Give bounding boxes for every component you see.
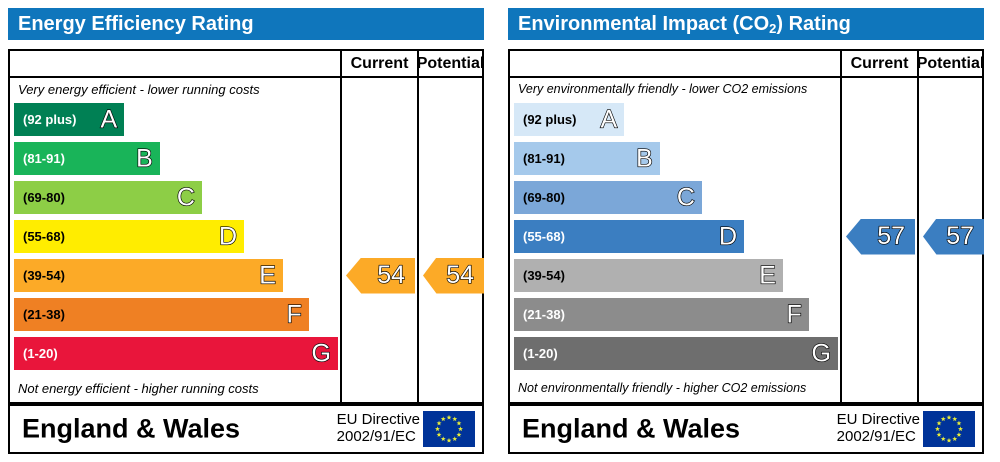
band-bar-e: (39-54)E xyxy=(14,259,283,292)
column-header-potential: Potential xyxy=(917,51,982,76)
table-header-row: Current Potential xyxy=(10,51,482,78)
footer-region-label: England & Wales xyxy=(22,414,240,445)
chart-title-text: Energy Efficiency Rating xyxy=(18,13,254,36)
rating-table: Current Potential Very energy efficient … xyxy=(8,49,484,404)
epc-charts-page: Energy Efficiency Rating Current Potenti… xyxy=(0,0,1000,462)
chart-title-bar: Environmental Impact (CO2) Rating xyxy=(508,8,984,40)
band-range-label: (81-91) xyxy=(523,151,565,166)
band-range-label: (69-80) xyxy=(523,190,565,205)
directive-line-1: EU Directive xyxy=(337,412,420,429)
band-letter-c: C xyxy=(177,185,195,210)
band-range-label: (39-54) xyxy=(23,268,65,283)
band-letter-d: D xyxy=(219,224,237,249)
column-divider-1 xyxy=(340,78,342,402)
potential-rating-arrow: 57 xyxy=(923,219,984,255)
band-letter-g: G xyxy=(312,341,331,366)
band-bar-a: (92 plus)A xyxy=(14,103,124,136)
band-range-label: (69-80) xyxy=(23,190,65,205)
band-range-label: (92 plus) xyxy=(523,112,576,127)
chart-footer: England & Wales EU Directive 2002/91/EC xyxy=(508,404,984,454)
chart-title-subscript: 2 xyxy=(769,21,776,36)
column-header-current: Current xyxy=(340,51,417,76)
band-letter-a: A xyxy=(100,107,117,132)
band-bar-f: (21-38)F xyxy=(14,298,309,331)
band-bar-c: (69-80)C xyxy=(514,181,702,214)
band-letter-b: B xyxy=(636,146,653,171)
directive-line-2: 2002/91/EC xyxy=(337,429,420,446)
column-divider-2 xyxy=(917,78,919,402)
band-letter-c: C xyxy=(677,185,695,210)
caption-top: Very energy efficient - lower running co… xyxy=(18,82,336,97)
column-header-potential: Potential xyxy=(417,51,482,76)
column-header-current: Current xyxy=(840,51,917,76)
directive-line-2: 2002/91/EC xyxy=(837,429,920,446)
band-range-label: (55-68) xyxy=(23,229,65,244)
band-letter-f: F xyxy=(287,302,302,327)
current-rating-value: 57 xyxy=(877,224,905,249)
caption-bottom: Not environmentally friendly - higher CO… xyxy=(518,381,848,395)
energy-efficiency-rating-chart: Energy Efficiency Rating Current Potenti… xyxy=(0,0,492,462)
chart-footer: England & Wales EU Directive 2002/91/EC xyxy=(8,404,484,454)
band-bar-g: (1-20)G xyxy=(514,337,838,370)
eu-flag-icon xyxy=(923,411,975,447)
column-divider-1 xyxy=(840,78,842,402)
band-bar-f: (21-38)F xyxy=(514,298,809,331)
band-letter-f: F xyxy=(787,302,802,327)
band-bar-c: (69-80)C xyxy=(14,181,202,214)
current-rating-arrow: 57 xyxy=(846,219,915,255)
band-letter-a: A xyxy=(600,107,617,132)
table-header-row: Current Potential xyxy=(510,51,982,78)
band-bar-g: (1-20)G xyxy=(14,337,338,370)
band-bar-b: (81-91)B xyxy=(14,142,160,175)
current-rating-value: 54 xyxy=(377,263,405,288)
eu-flag-icon xyxy=(423,411,475,447)
band-letter-b: B xyxy=(136,146,153,171)
band-letter-d: D xyxy=(719,224,737,249)
band-range-label: (1-20) xyxy=(23,346,58,361)
band-range-label: (39-54) xyxy=(523,268,565,283)
band-bar-b: (81-91)B xyxy=(514,142,660,175)
footer-directive: EU Directive 2002/91/EC xyxy=(337,412,420,446)
environmental-impact-rating-chart: Environmental Impact (CO2) Rating Curren… xyxy=(500,0,992,462)
potential-rating-arrow: 54 xyxy=(423,258,484,294)
band-range-label: (55-68) xyxy=(523,229,565,244)
directive-line-1: EU Directive xyxy=(837,412,920,429)
potential-rating-value: 57 xyxy=(946,224,974,249)
footer-directive: EU Directive 2002/91/EC xyxy=(837,412,920,446)
band-bar-e: (39-54)E xyxy=(514,259,783,292)
band-range-label: (92 plus) xyxy=(23,112,76,127)
chart-title-text: Environmental Impact (CO xyxy=(518,13,769,36)
band-bar-a: (92 plus)A xyxy=(514,103,624,136)
band-bar-d: (55-68)D xyxy=(514,220,744,253)
column-divider-2 xyxy=(417,78,419,402)
band-range-label: (21-38) xyxy=(523,307,565,322)
chart-title-bar: Energy Efficiency Rating xyxy=(8,8,484,40)
caption-top: Very environmentally friendly - lower CO… xyxy=(518,82,848,96)
band-bar-d: (55-68)D xyxy=(14,220,244,253)
band-bars: (92 plus)A(81-91)B(69-80)C(55-68)D(39-54… xyxy=(14,103,338,379)
band-letter-e: E xyxy=(759,263,776,288)
chart-title-tail: ) Rating xyxy=(776,13,850,36)
caption-bottom: Not energy efficient - higher running co… xyxy=(18,381,336,396)
band-bars: (92 plus)A(81-91)B(69-80)C(55-68)D(39-54… xyxy=(514,103,838,379)
footer-region-label: England & Wales xyxy=(522,414,740,445)
potential-rating-value: 54 xyxy=(446,263,474,288)
band-letter-e: E xyxy=(259,263,276,288)
band-range-label: (81-91) xyxy=(23,151,65,166)
rating-table: Current Potential Very environmentally f… xyxy=(508,49,984,404)
band-range-label: (1-20) xyxy=(523,346,558,361)
current-rating-arrow: 54 xyxy=(346,258,415,294)
band-range-label: (21-38) xyxy=(23,307,65,322)
band-letter-g: G xyxy=(812,341,831,366)
